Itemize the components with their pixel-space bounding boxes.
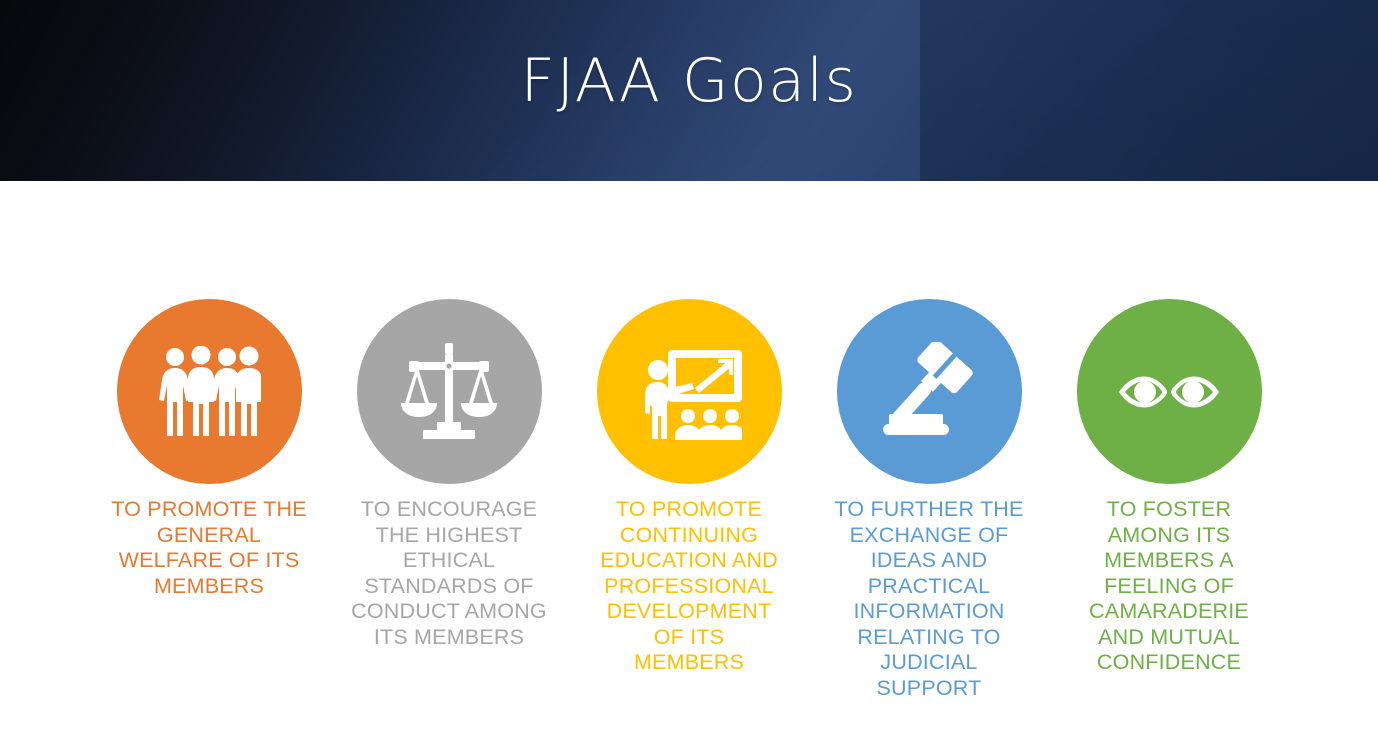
goal-caption-3: TO PROMOTE CONTINUING EDUCATION AND PROF… [598,497,780,676]
gavel-icon [879,342,979,442]
goal-item-welfare[interactable]: TO PROMOTE THE GENERAL WELFARE OF ITS ME… [89,299,329,599]
goals-row: TO PROMOTE THE GENERAL WELFARE OF ITS ME… [0,181,1378,730]
goal-item-camaraderie[interactable]: TO FOSTER AMONG ITS MEMBERS A FEELING OF… [1049,299,1289,676]
goal-item-education[interactable]: TO PROMOTE CONTINUING EDUCATION AND PROF… [569,299,809,676]
goal-item-exchange[interactable]: TO FURTHER THE EXCHANGE OF IDEAS AND PRA… [809,299,1049,701]
goal-caption-5: TO FOSTER AMONG ITS MEMBERS A FEELING OF… [1066,497,1273,676]
goal-caption-2: TO ENCOURAGE THE HIGHEST ETHICAL STANDAR… [347,497,552,650]
goal-caption-1: TO PROMOTE THE GENERAL WELFARE OF ITS ME… [109,497,309,599]
goal-caption-4: TO FURTHER THE EXCHANGE OF IDEAS AND PRA… [829,497,1029,701]
slide-header-banner: FJAA Goals [0,0,1378,181]
page-title: FJAA Goals [0,0,1378,171]
goal-icon-circle-4 [837,299,1022,484]
goal-icon-circle-3 [597,299,782,484]
eyes-icon [1117,370,1221,414]
goal-icon-circle-2 [357,299,542,484]
goal-icon-circle-1 [117,299,302,484]
teacher-whiteboard-icon [636,344,742,440]
group-of-people-icon [157,346,261,438]
goal-item-ethics[interactable]: TO ENCOURAGE THE HIGHEST ETHICAL STANDAR… [329,299,569,650]
goal-icon-circle-5 [1077,299,1262,484]
scales-of-justice-icon [399,342,499,442]
